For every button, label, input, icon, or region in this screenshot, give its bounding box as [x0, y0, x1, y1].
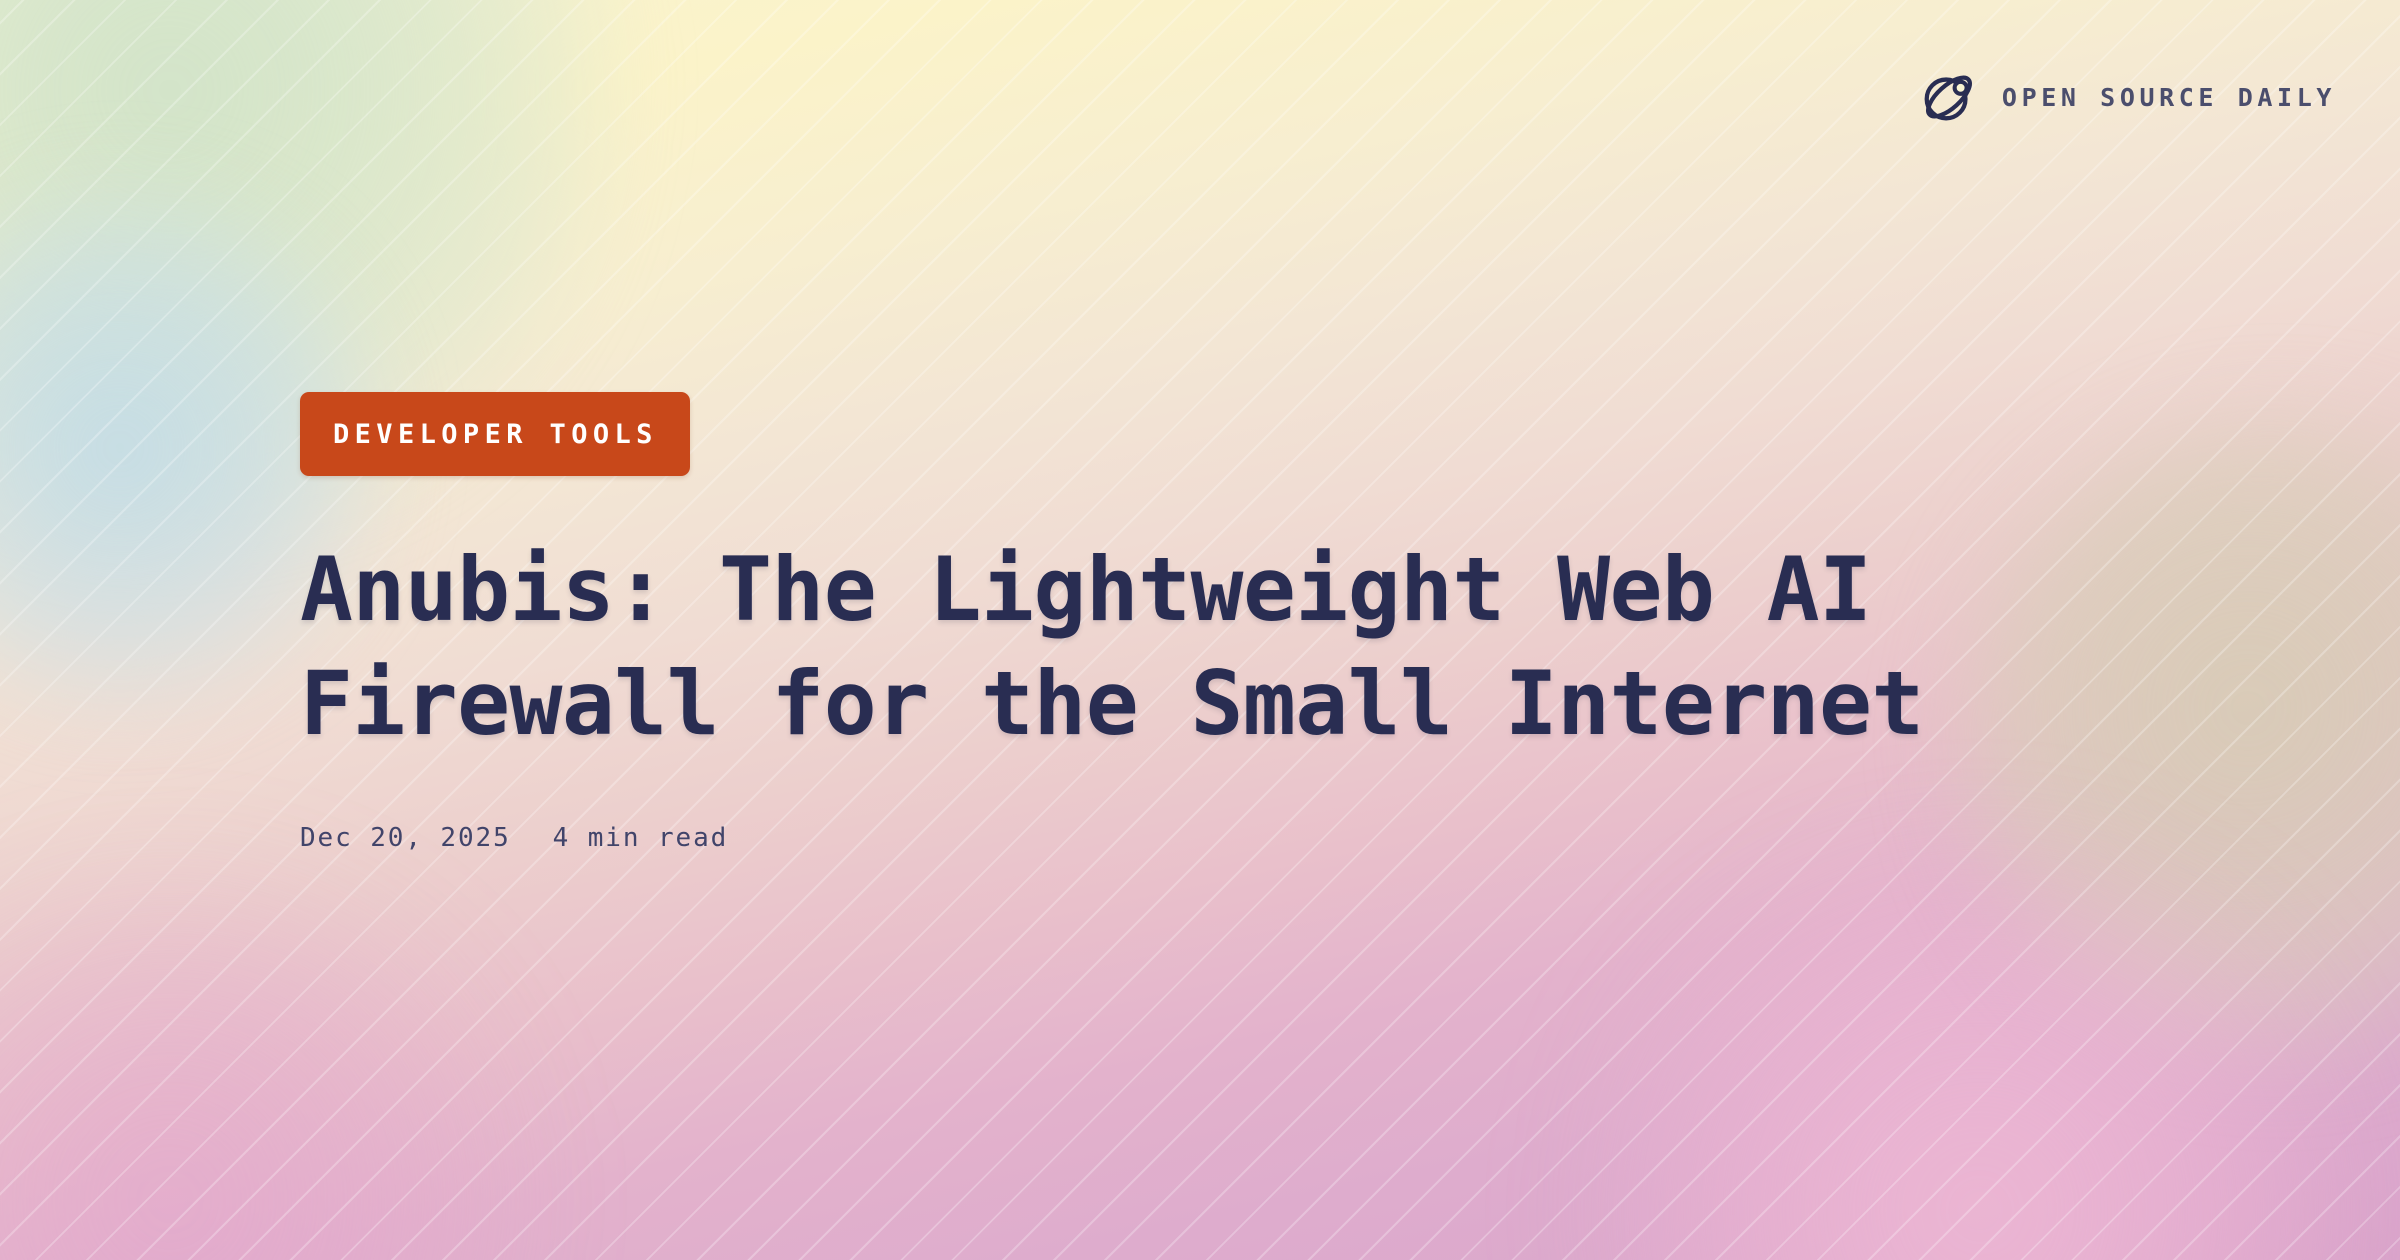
- category-badge[interactable]: DEVELOPER TOOLS: [300, 392, 690, 476]
- article-meta: Dec 20, 2025 4 min read: [300, 823, 2160, 853]
- article-content: DEVELOPER TOOLS Anubis: The Lightweight …: [300, 392, 2160, 853]
- brand-name-text: OPEN SOURCE DAILY: [2002, 85, 2336, 110]
- planet-ring-icon: [1918, 66, 1980, 128]
- read-time: 4 min read: [553, 823, 729, 853]
- page-title: Anubis: The Lightweight Web AI Firewall …: [300, 533, 2160, 761]
- article-hero-banner: OPEN SOURCE DAILY DEVELOPER TOOLS Anubis…: [0, 0, 2400, 1260]
- brand-header[interactable]: OPEN SOURCE DAILY: [1918, 66, 2336, 128]
- publish-date: Dec 20, 2025: [300, 823, 511, 853]
